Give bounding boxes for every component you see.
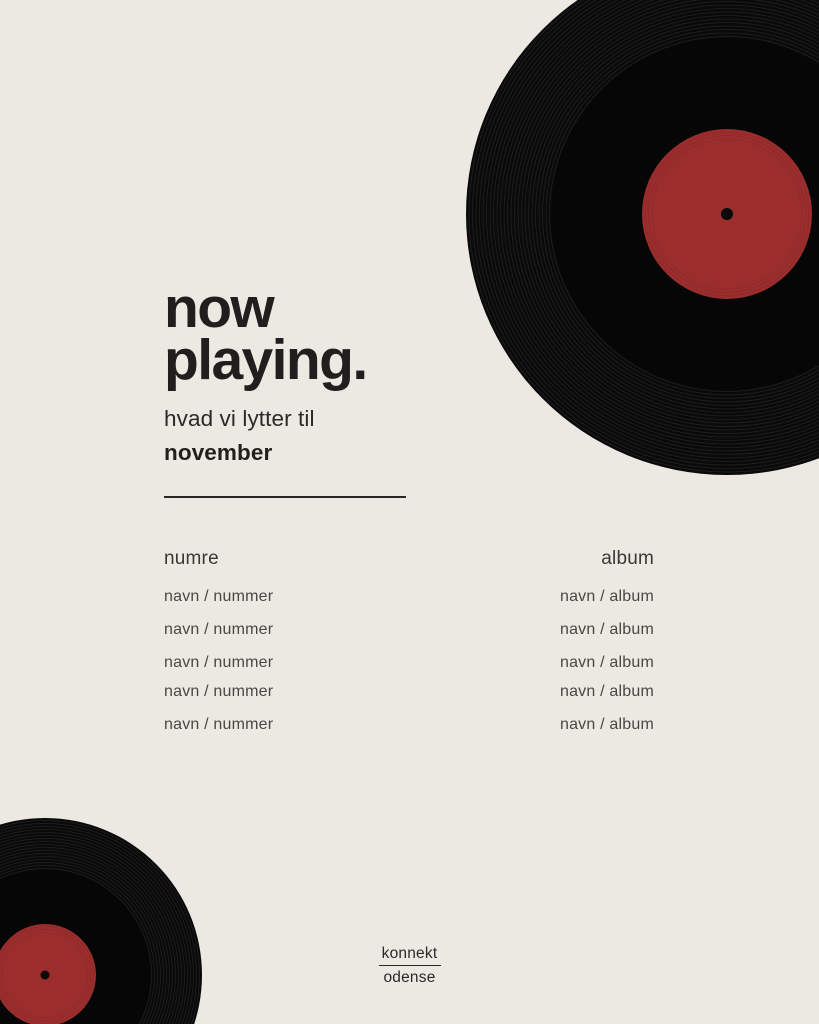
albums-column: album navn / album navn / album navn / a… — [560, 549, 654, 733]
footer: konnekt odense — [0, 944, 819, 988]
headline-block: now playing. hvad vi lytter til november — [164, 282, 604, 498]
header-divider — [164, 496, 406, 498]
list-item: navn / nummer — [164, 622, 273, 655]
footer-brand: konnekt — [382, 944, 438, 963]
vinyl-record-bottom-left — [0, 818, 202, 1024]
list-item: navn / album — [560, 684, 654, 717]
footer-city: odense — [383, 968, 435, 987]
list-item: navn / album — [560, 622, 654, 655]
vinyl-records-graphic — [0, 0, 819, 1024]
albums-column-heading: album — [601, 549, 654, 589]
footer-divider — [379, 965, 441, 966]
vinyl-grooves — [0, 821, 200, 1024]
list-item: navn / album — [560, 589, 654, 622]
list-item: navn / album — [560, 655, 654, 684]
vinyl-disc-body — [0, 818, 202, 1024]
poster-canvas: now playing. hvad vi lytter til november… — [0, 0, 819, 1024]
list-item: navn / album — [560, 717, 654, 733]
page-month: november — [164, 432, 604, 466]
listing-section: numre navn / nummer navn / nummer navn /… — [164, 549, 654, 733]
vinyl-center-hole — [721, 208, 733, 220]
vinyl-label-rings — [645, 132, 809, 296]
tracks-column: numre navn / nummer navn / nummer navn /… — [164, 549, 273, 733]
vinyl-label — [642, 129, 812, 299]
list-item: navn / nummer — [164, 589, 273, 622]
list-item: navn / nummer — [164, 717, 273, 733]
tracks-column-heading: numre — [164, 549, 219, 589]
list-item: navn / nummer — [164, 684, 273, 717]
list-item: navn / nummer — [164, 655, 273, 684]
page-subtitle: hvad vi lytter til — [164, 387, 604, 432]
page-title: now playing. — [164, 282, 604, 387]
